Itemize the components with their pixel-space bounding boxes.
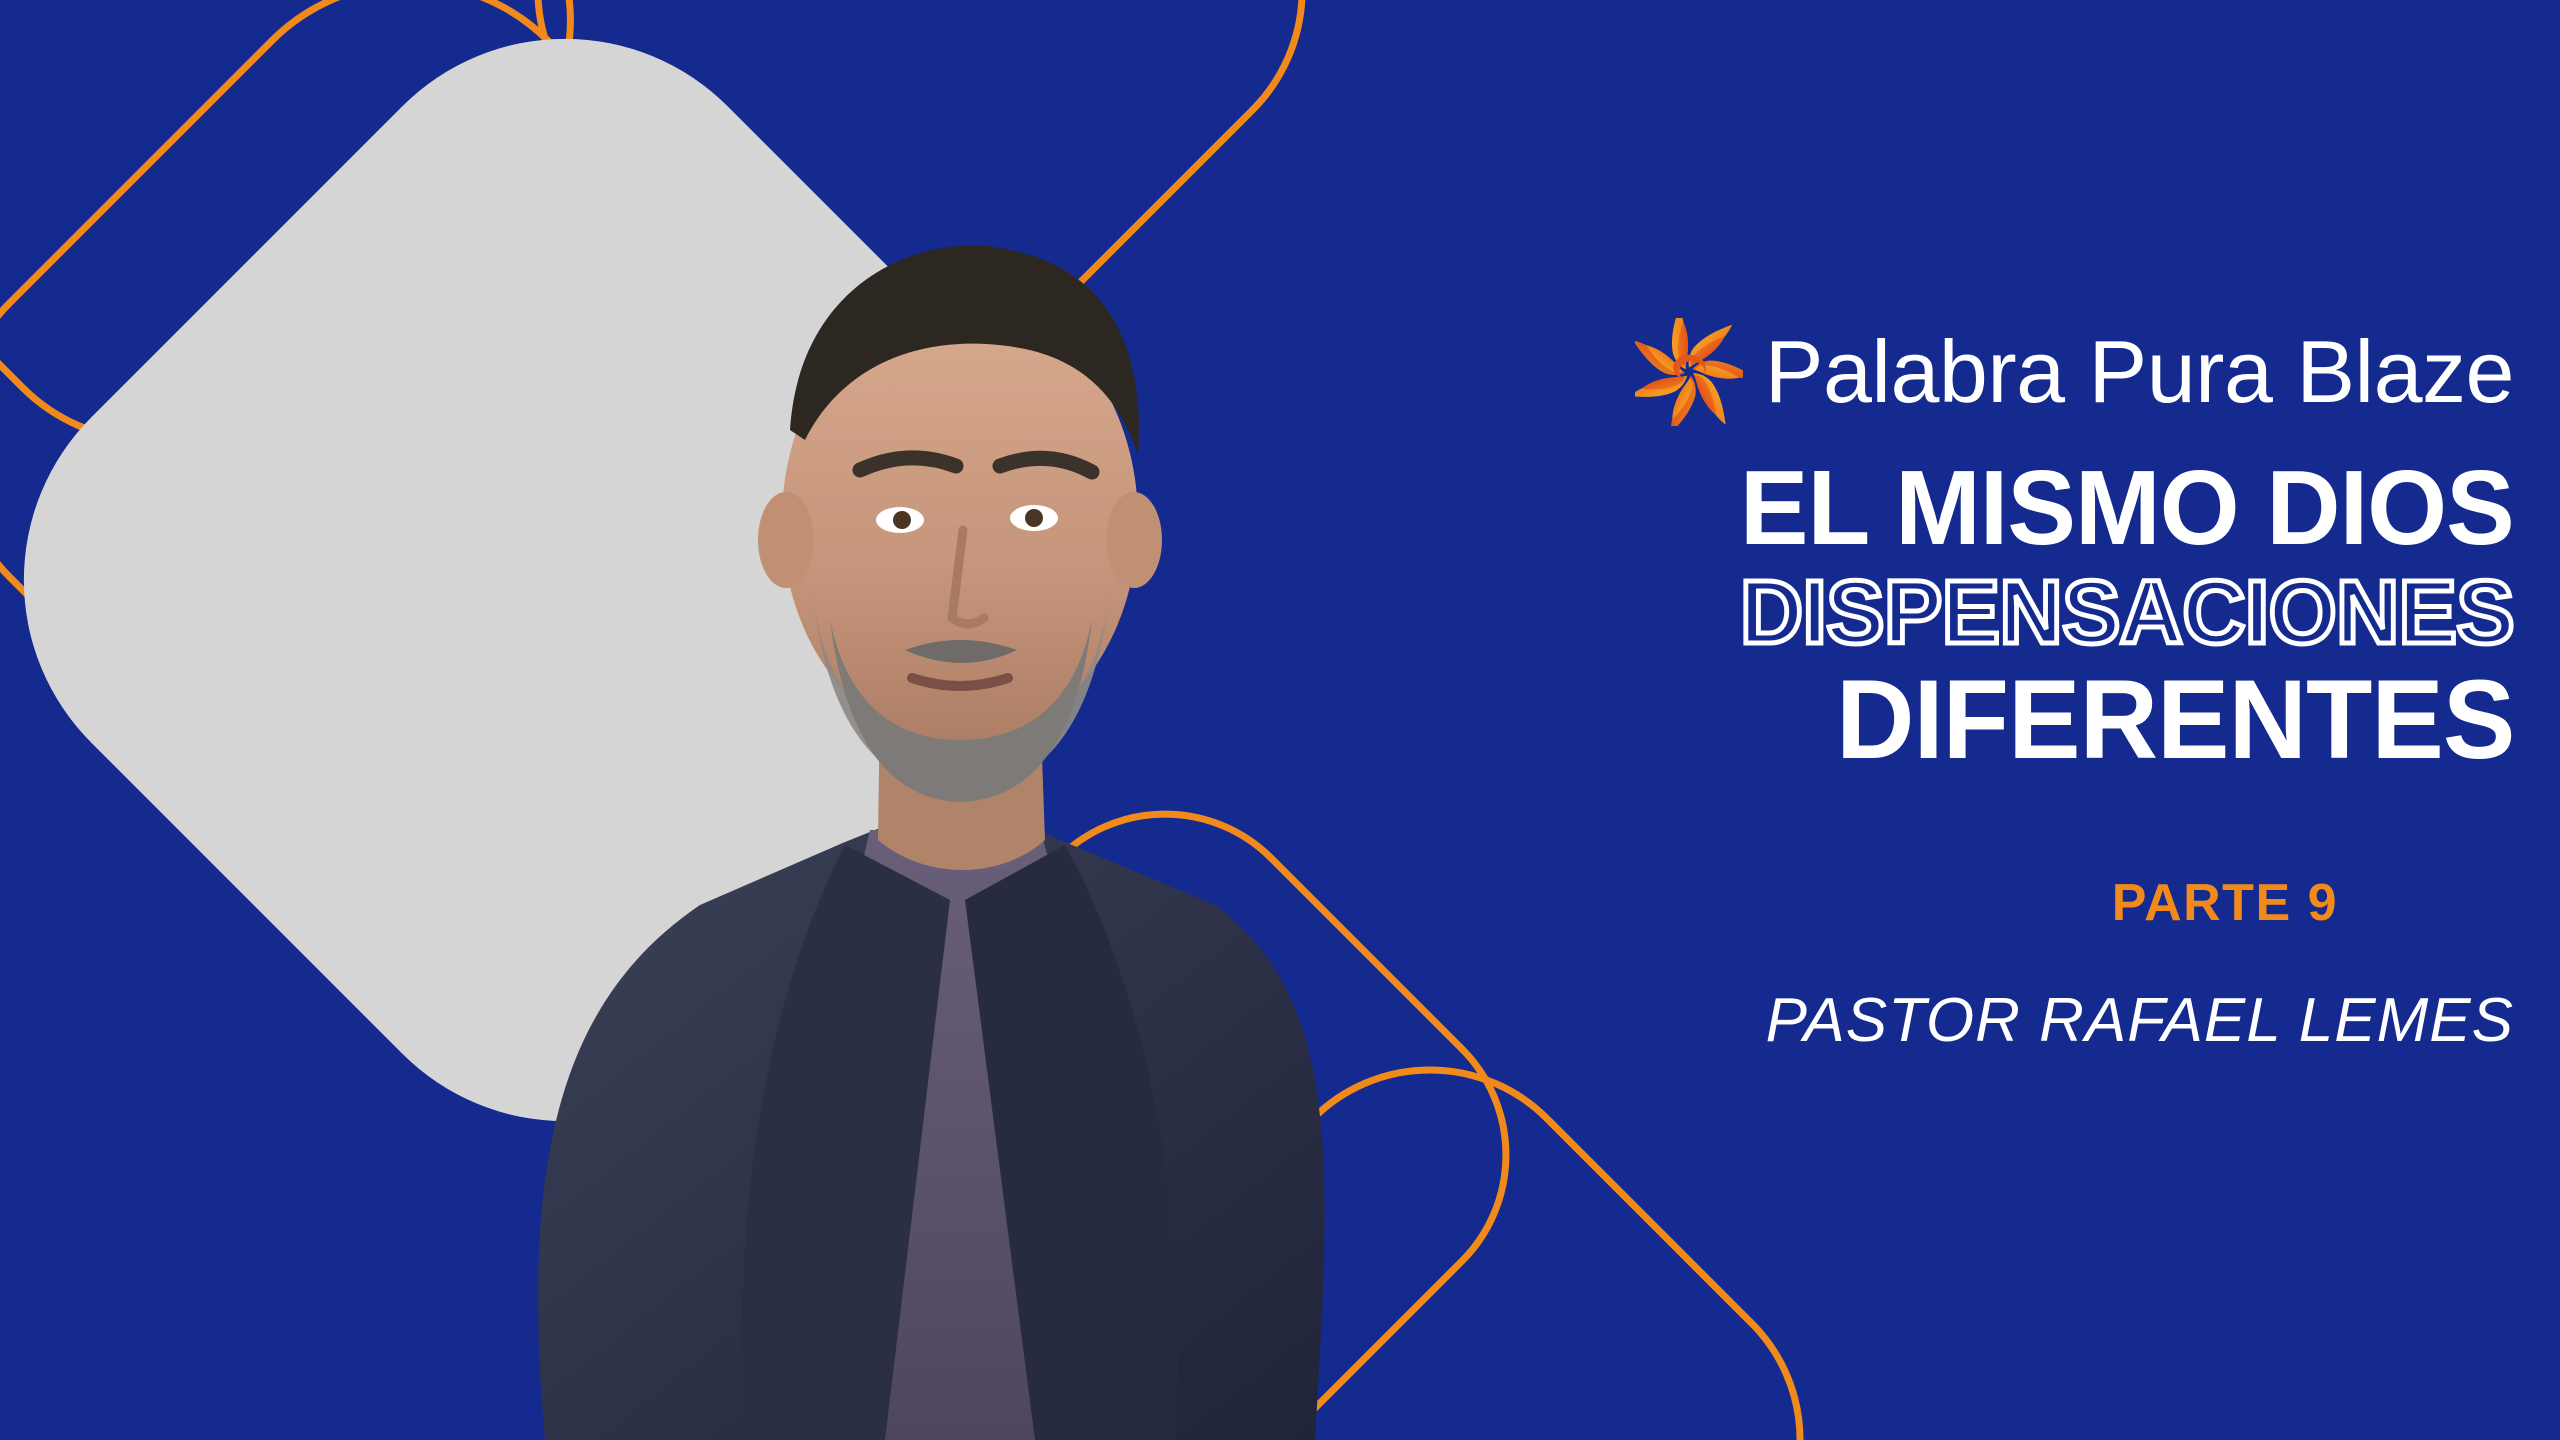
thumbnail-canvas: Palabra Pura Blaze EL MISMO DIOS DISPENS… xyxy=(0,0,2560,1440)
portrait-ear-left xyxy=(758,492,814,588)
sun-flame-spiral-icon xyxy=(1635,318,1743,426)
speaker-name: PASTOR RAFAEL LEMES xyxy=(1766,985,2514,1056)
portrait-pupil-left xyxy=(893,511,911,529)
part-label: PARTE 9 xyxy=(2112,873,2338,933)
headline-stack: EL MISMO DIOS DISPENSACIONES DIFERENTES xyxy=(1334,454,2514,777)
headline-line-2-outlined: DISPENSACIONES xyxy=(1740,566,2514,661)
headline-line-1: EL MISMO DIOS xyxy=(1740,454,2514,562)
brand-name: Palabra Pura Blaze xyxy=(1765,329,2514,415)
portrait-pupil-right xyxy=(1025,509,1043,527)
brand-lockup: Palabra Pura Blaze xyxy=(1635,318,2514,426)
content-column: Palabra Pura Blaze EL MISMO DIOS DISPENS… xyxy=(1334,0,2514,1440)
portrait-ear-right xyxy=(1106,492,1162,588)
headline-line-3: DIFERENTES xyxy=(1836,663,2514,777)
